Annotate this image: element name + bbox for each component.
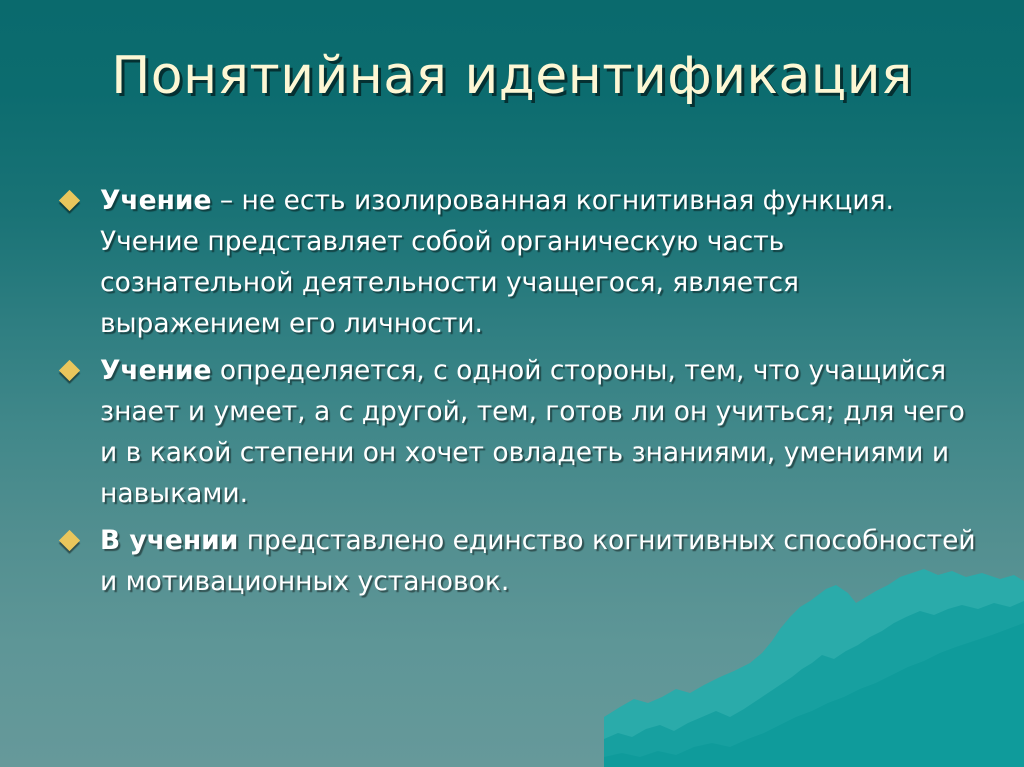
- list-item-body: – не есть изолированная когнитивная функ…: [100, 185, 894, 339]
- list-item: В учении представлено единство когнитивн…: [56, 520, 986, 602]
- presentation-slide: Понятийная идентификация Учение – не ест…: [0, 0, 1024, 767]
- page-title: Понятийная идентификация: [111, 48, 913, 105]
- list-item-lead: Учение: [100, 185, 211, 216]
- list-item: Учение определяется, с одной стороны, те…: [56, 350, 986, 514]
- list-item-text: Учение определяется, с одной стороны, те…: [100, 350, 986, 514]
- list-item: Учение – не есть изолированная когнитивн…: [56, 180, 986, 344]
- list-item-text: Учение – не есть изолированная когнитивн…: [100, 180, 986, 344]
- title-area: Понятийная идентификация: [0, 48, 1024, 105]
- diamond-bullet-icon: [59, 530, 80, 551]
- diamond-bullet-icon: [59, 190, 80, 211]
- diamond-bullet-icon: [59, 360, 80, 381]
- list-item-lead: В учении: [100, 525, 238, 556]
- list-item-text: В учении представлено единство когнитивн…: [100, 520, 986, 602]
- list-item-lead: Учение: [100, 355, 211, 386]
- bullet-list: Учение – не есть изолированная когнитивн…: [56, 180, 986, 602]
- list-item-body: определяется, с одной стороны, тем, что …: [100, 355, 965, 509]
